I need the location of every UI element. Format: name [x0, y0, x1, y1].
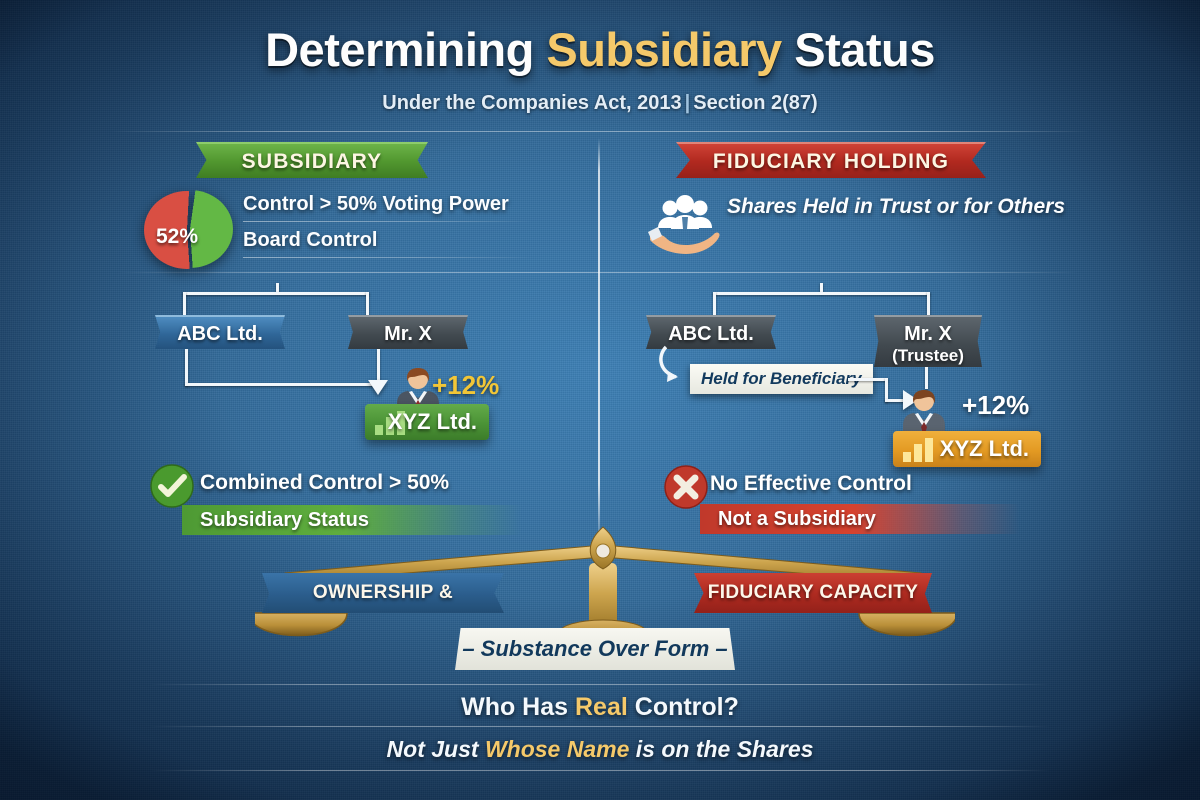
right-node-mrx-role: (Trustee) [874, 345, 982, 367]
right-criteria-1: Shares Held in Trust or for Others [727, 195, 1065, 219]
footer-statement-highlight: Whose Name [485, 736, 629, 762]
scale-banner-fiduciary: FIDUCIARY CAPACITY [694, 573, 932, 613]
right-flow-drop-abc [713, 292, 716, 316]
divider-footer-mid [150, 726, 1050, 727]
title-highlight: Subsidiary [546, 23, 781, 76]
left-node-abc: ABC Ltd. [155, 315, 285, 349]
left-percent-badge: +12% [432, 370, 499, 401]
divider-footer-top [150, 684, 1050, 685]
left-company-label: XYZ Ltd. [388, 404, 477, 440]
divider-top [110, 131, 1090, 132]
right-node-mrx: Mr. X (Trustee) [874, 315, 982, 367]
left-arrowhead-down [368, 380, 388, 395]
right-flow-bar [713, 292, 930, 295]
left-abc-right [185, 383, 380, 386]
footer-statement-part-1: Not Just [387, 736, 485, 762]
right-node-abc: ABC Ltd. [646, 315, 776, 349]
bar-chart-icon [901, 436, 941, 462]
left-flow-drop-mrx [366, 292, 369, 316]
divider-center-vertical [598, 138, 600, 550]
hand-holding-people-icon [648, 192, 722, 254]
substance-over-form-plate: – Substance Over Form – [455, 628, 735, 670]
right-flow-drop-mrx [927, 292, 930, 316]
right-company-label: XYZ Ltd. [940, 431, 1029, 467]
left-flow-drop-abc [183, 292, 186, 316]
divider-footer-bottom [150, 770, 1050, 771]
infographic-canvas: Determining Subsidiary Status Under the … [0, 0, 1200, 800]
footer-question-highlight: Real [575, 693, 628, 721]
footer-question-part-2: Control? [628, 693, 739, 721]
callout-held-for-beneficiary: Held for Beneficiary [690, 364, 873, 394]
left-criteria-1: Control > 50% Voting Power [243, 193, 509, 216]
left-criteria-1-rule [243, 221, 533, 222]
right-node-mrx-label: Mr. X [904, 323, 952, 345]
subtitle-act: Under the Companies Act, 2013 [382, 92, 681, 114]
cross-icon [664, 465, 708, 509]
footer-question-part-1: Who Has [461, 693, 575, 721]
scale-banner-ownership: OWNERSHIP & CONTROL [262, 573, 504, 613]
title-part-2: Status [782, 23, 935, 76]
left-flow-bar [183, 292, 369, 295]
footer-statement-part-2: is on the Shares [629, 736, 813, 762]
trustee-avatar-icon [898, 385, 950, 437]
left-mrx-down [377, 349, 380, 383]
check-icon [150, 464, 194, 508]
left-criteria-2-rule [243, 257, 533, 258]
right-company-xyz: XYZ Ltd. [893, 431, 1041, 467]
right-callout-connector [848, 378, 888, 381]
subtitle-section: Section 2(87) [693, 92, 817, 114]
left-criteria-2: Board Control [243, 229, 377, 252]
right-percent-badge: +12% [962, 390, 1029, 421]
right-verdict-headline: No Effective Control [710, 472, 912, 496]
left-company-xyz: XYZ Ltd. [365, 404, 489, 440]
footer-question: Who Has Real Control? [0, 693, 1200, 722]
title-part-1: Determining [265, 23, 546, 76]
left-node-mrx: Mr. X [348, 315, 468, 349]
subtitle-separator: | [682, 92, 694, 114]
ribbon-fiduciary-holding: FIDUCIARY HOLDING [676, 142, 986, 178]
left-abc-down [185, 349, 188, 386]
page-subtitle: Under the Companies Act, 2013|Section 2(… [0, 92, 1200, 115]
pie-label-52: 52% [156, 225, 198, 249]
page-title: Determining Subsidiary Status [0, 22, 1200, 77]
footer-statement: Not Just Whose Name is on the Shares [0, 736, 1200, 763]
left-verdict-headline: Combined Control > 50% [200, 471, 449, 495]
ribbon-subsidiary: SUBSIDIARY [196, 142, 428, 178]
